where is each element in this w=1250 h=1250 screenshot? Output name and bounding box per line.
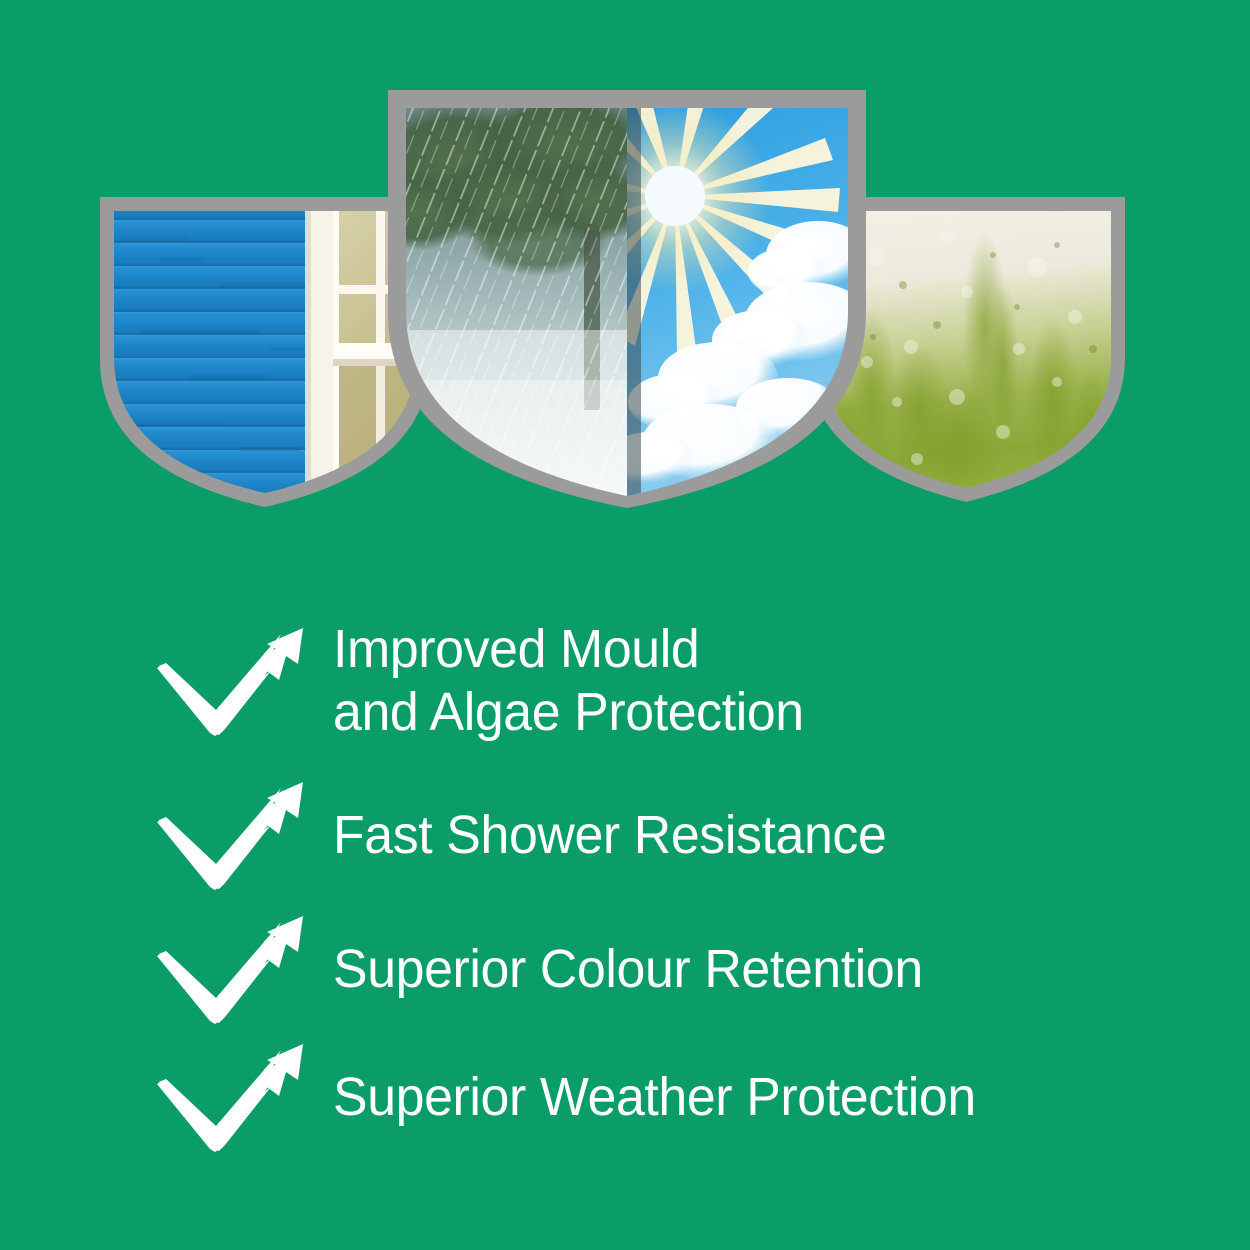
benefit-label: Superior Colour Retention	[333, 938, 923, 1001]
shield-weather	[388, 90, 866, 508]
arrow-check-icon	[155, 912, 315, 1027]
arrow-check-icon	[155, 624, 315, 739]
promo-graphic: Improved Mould and Algae Protection Fast…	[0, 0, 1250, 1250]
shield-icon	[388, 90, 866, 508]
benefit-item: Superior Weather Protection	[155, 1040, 1003, 1155]
arrow-check-icon	[155, 778, 315, 893]
benefit-label: Improved Mould and Algae Protection	[333, 618, 804, 744]
benefit-item: Superior Colour Retention	[155, 912, 947, 1027]
shield-icon	[100, 197, 430, 507]
shield-group	[0, 0, 1250, 560]
benefit-item: Improved Mould and Algae Protection	[155, 618, 823, 744]
shield-painted-masonry	[100, 197, 430, 507]
benefit-label: Fast Shower Resistance	[333, 804, 886, 867]
benefit-label: Superior Weather Protection	[333, 1066, 976, 1129]
arrow-check-icon	[155, 1040, 315, 1155]
benefit-item: Fast Shower Resistance	[155, 778, 909, 893]
